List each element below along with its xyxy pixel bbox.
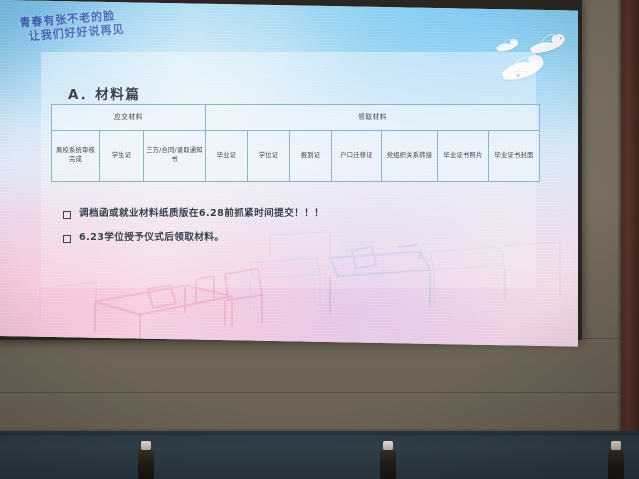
front-desk (0, 431, 639, 479)
bullet-text: 6.23学位授予仪式后领取材料。 (79, 232, 224, 244)
water-bottle (138, 449, 154, 479)
bullet-text: 调档函或就业材料纸质版在6.28前抓紧时间提交！！！ (79, 208, 324, 220)
table-cell: 报到证 (290, 131, 332, 182)
bottle-cap (383, 441, 393, 450)
water-bottle (380, 449, 396, 479)
checkbox-icon (63, 235, 71, 243)
group-header-collect: 领取材料 (206, 105, 540, 131)
bottle-cap (611, 441, 621, 450)
table-cell: 学生证 (100, 131, 144, 182)
table-cell: 毕业证书封面 (489, 131, 540, 182)
table-cell: 户口迁移证 (332, 131, 382, 182)
wall-seam-lower (0, 392, 639, 393)
table-cell: 毕业证 (206, 131, 248, 182)
photo-frame: 青春有张不老的脸 让我们好好说再见 (0, 0, 639, 479)
bullet-item: 调档函或就业材料纸质版在6.28前抓紧时间提交！！！ (63, 208, 533, 220)
desk-edge (0, 429, 639, 435)
table-cell: 学位证 (248, 131, 290, 182)
table-cell: 三方/合同/录取通知书 (144, 131, 206, 182)
table-group-row: 应交材料 领取材料 (52, 105, 540, 131)
bullet-list: 调档函或就业材料纸质版在6.28前抓紧时间提交！！！ 6.23学位授予仪式后领取… (63, 208, 533, 256)
checkbox-icon (63, 211, 71, 219)
page-title: A．材料篇 (68, 83, 140, 103)
water-bottle (608, 449, 624, 479)
table-cell: 离校系统审核完成 (52, 131, 100, 182)
group-header-submit: 应交材料 (52, 105, 206, 131)
table-column-row: 离校系统审核完成 学生证 三方/合同/录取通知书 毕业证 学位证 报到证 户口迁… (52, 131, 540, 182)
table-cell: 毕业证书照片 (438, 131, 489, 182)
table-cell: 党组织关系转接 (382, 131, 438, 182)
materials-table: 应交材料 领取材料 离校系统审核完成 学生证 三方/合同/录取通知书 毕业证 学… (51, 104, 540, 182)
bottle-cap (141, 441, 151, 450)
right-pillar (621, 0, 639, 479)
bullet-item: 6.23学位授予仪式后领取材料。 (63, 232, 533, 244)
